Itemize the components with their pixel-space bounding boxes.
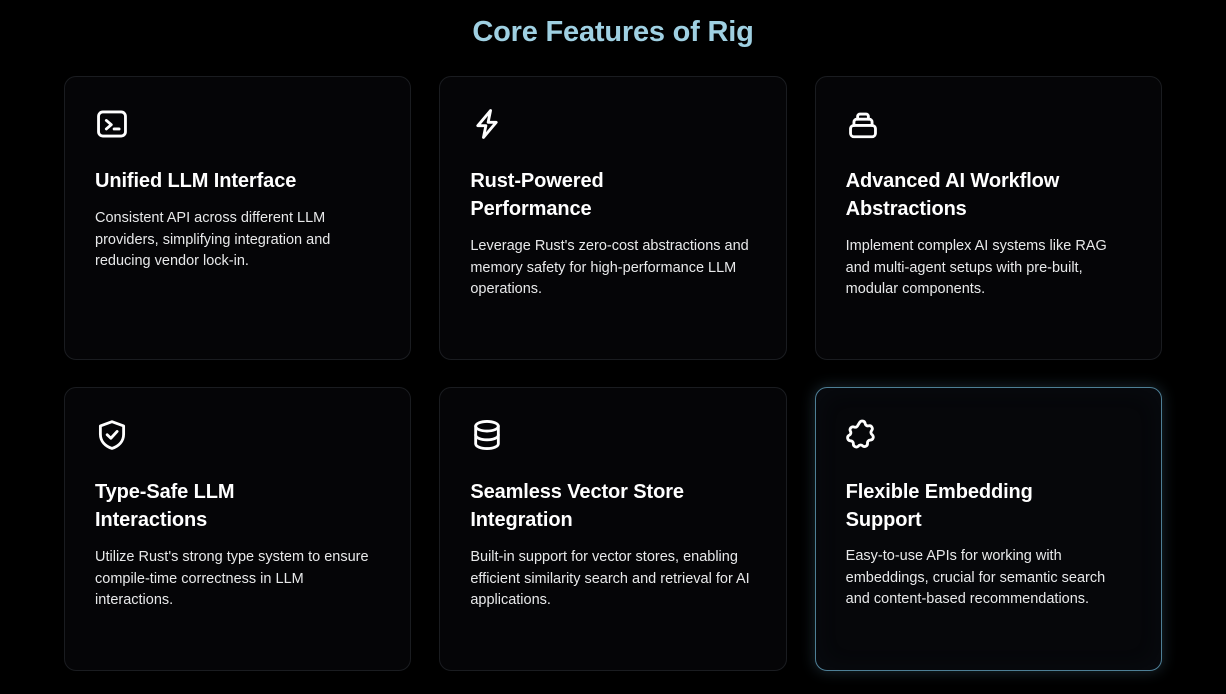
feature-card-type-safe-llm-interactions[interactable]: Type-Safe LLM Interactions Utilize Rust'… [64,387,411,671]
feature-card-description: Utilize Rust's strong type system to ens… [95,547,380,612]
feature-card-title: Rust-Powered Performance [470,167,720,223]
terminal-icon [95,107,129,141]
features-page: Core Features of Rig Unified LLM Interfa… [0,0,1226,694]
feature-card-description: Leverage Rust's zero-cost abstractions a… [470,236,755,301]
feature-card-grid: Unified LLM Interface Consistent API acr… [64,76,1162,671]
feature-card-title: Advanced AI Workflow Abstractions [846,167,1096,223]
shield-check-icon [95,418,129,452]
feature-card-title: Flexible Embedding Support [846,478,1096,534]
feature-card-description: Consistent API across different LLM prov… [95,208,380,273]
feature-card-title: Type-Safe LLM Interactions [95,478,345,534]
feature-card-title: Unified LLM Interface [95,167,345,195]
feature-card-title: Seamless Vector Store Integration [470,478,720,534]
feature-card-description: Built-in support for vector stores, enab… [470,547,755,612]
database-icon [470,418,504,452]
feature-card-rust-powered-performance[interactable]: Rust-Powered Performance Leverage Rust's… [439,76,786,360]
zap-icon [470,107,504,141]
feature-card-unified-llm-interface[interactable]: Unified LLM Interface Consistent API acr… [64,76,411,360]
feature-card-description: Implement complex AI systems like RAG an… [846,236,1131,301]
feature-card-advanced-ai-workflow-abstractions[interactable]: Advanced AI Workflow Abstractions Implem… [815,76,1162,360]
layers-stack-icon [846,107,880,141]
page-title: Core Features of Rig [64,0,1162,49]
puzzle-piece-icon [846,418,880,452]
feature-card-seamless-vector-store-integration[interactable]: Seamless Vector Store Integration Built-… [439,387,786,671]
feature-card-description: Easy-to-use APIs for working with embedd… [846,546,1131,611]
feature-card-flexible-embedding-support[interactable]: Flexible Embedding Support Easy-to-use A… [815,387,1162,671]
